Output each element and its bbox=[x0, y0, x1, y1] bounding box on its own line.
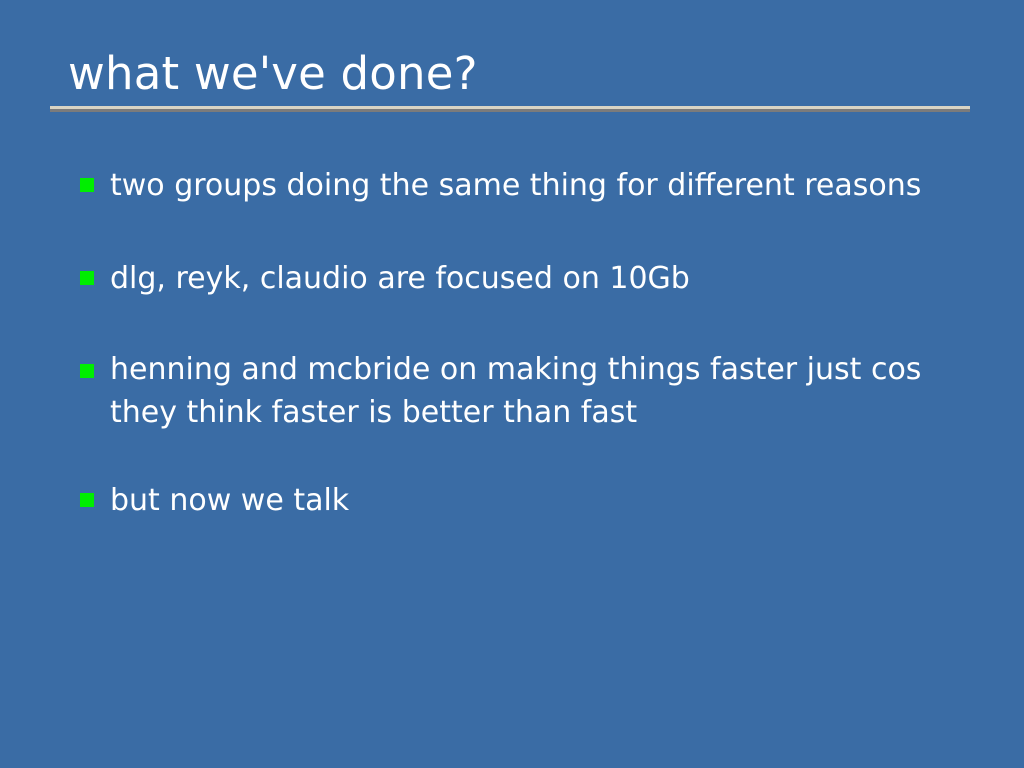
list-item: henning and mcbride on making things fas… bbox=[80, 348, 960, 434]
bullet-gap bbox=[80, 434, 960, 477]
bullet-gap bbox=[80, 303, 960, 348]
title-block: what we've done? bbox=[50, 46, 970, 102]
list-item-label: dlg, reyk, claudio are focused on 10Gb bbox=[110, 255, 960, 303]
bullet-gap bbox=[80, 210, 960, 255]
square-bullet-icon bbox=[80, 178, 94, 192]
page-title: what we've done? bbox=[50, 46, 970, 102]
square-bullet-icon bbox=[80, 364, 94, 378]
square-bullet-icon bbox=[80, 493, 94, 507]
list-item-label: two groups doing the same thing for diff… bbox=[110, 162, 960, 210]
presentation-slide: what we've done? two groups doing the sa… bbox=[0, 0, 1024, 768]
list-item: dlg, reyk, claudio are focused on 10Gb bbox=[80, 255, 960, 303]
list-item: two groups doing the same thing for diff… bbox=[80, 162, 960, 210]
list-item: but now we talk bbox=[80, 477, 960, 525]
list-item-label: but now we talk bbox=[110, 477, 960, 525]
square-bullet-icon bbox=[80, 271, 94, 285]
list-item-label: henning and mcbride on making things fas… bbox=[110, 348, 960, 434]
bullet-list: two groups doing the same thing for diff… bbox=[80, 162, 960, 525]
title-underline-shadow bbox=[50, 109, 970, 112]
